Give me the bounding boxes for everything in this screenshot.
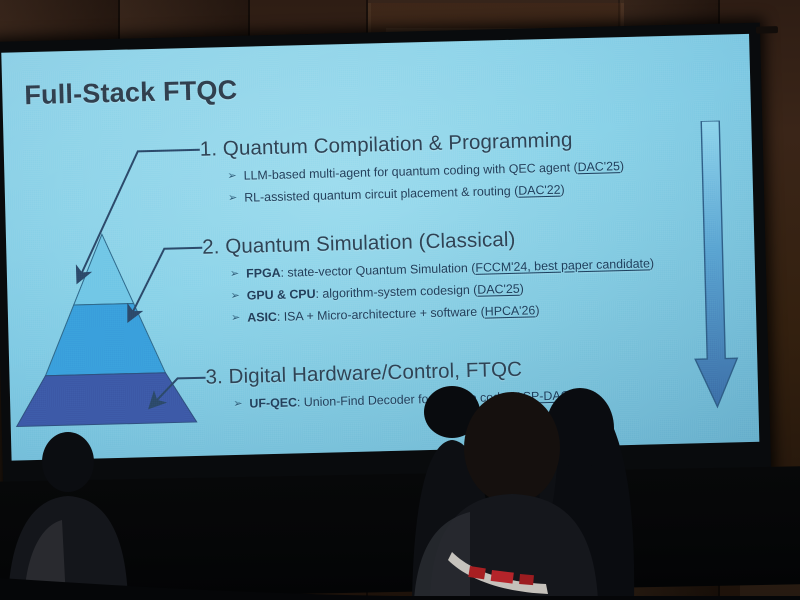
pyramid-middle-tier	[44, 303, 166, 376]
bullet-text: RL-assisted quantum circuit placement & …	[244, 183, 565, 205]
bullet-lead: ASIC	[247, 310, 277, 325]
bullet-tail: )	[620, 159, 624, 173]
audience-shapes	[0, 370, 800, 600]
bullet-body: : ISA + Micro-architecture + software (	[277, 305, 485, 324]
photo-scene: Full-Stack FTQC	[0, 0, 800, 600]
chevron-bullet-icon: ➢	[230, 289, 240, 302]
bullet-tail: )	[650, 256, 654, 270]
list-item: ➢ FPGA: state-vector Quantum Simulation …	[230, 254, 733, 281]
slide-section-2: 2. Quantum Simulation (Classical) ➢ FPGA…	[202, 222, 734, 325]
citation-link[interactable]: DAC'25	[577, 159, 620, 174]
audience-person-left	[8, 432, 128, 600]
bullet-lead: GPU & CPU	[247, 287, 316, 303]
pyramid-top-tier	[72, 234, 134, 305]
citation-link[interactable]: DAC'22	[518, 183, 561, 198]
bullet-text: LLM-based multi-agent for quantum coding…	[244, 159, 625, 183]
bullet-text: ASIC: ISA + Micro-architecture + softwar…	[247, 303, 540, 324]
bullet-list: ➢ FPGA: state-vector Quantum Simulation …	[203, 254, 734, 325]
citation-link[interactable]: DAC'25	[477, 282, 520, 297]
citation-link[interactable]: HPCA'26	[485, 303, 536, 318]
bullet-text: FPGA: state-vector Quantum Simulation (F…	[246, 256, 654, 280]
list-item: ➢ RL-assisted quantum circuit placement …	[228, 178, 731, 205]
slide-section-1: 1. Quantum Compilation & Programming ➢ L…	[199, 124, 731, 205]
screen-mount-rod	[756, 26, 778, 34]
bullet-list: ➢ LLM-based multi-agent for quantum codi…	[200, 156, 731, 205]
bullet-tail: )	[560, 183, 564, 197]
list-item: ➢ GPU & CPU: algorithm-system codesign (…	[230, 276, 733, 303]
bullet-tail: )	[519, 282, 523, 296]
citation-link[interactable]: FCCM'24, best paper candidate	[475, 256, 650, 274]
list-item: ➢ LLM-based multi-agent for quantum codi…	[227, 156, 730, 183]
list-item: ➢ ASIC: ISA + Micro-architecture + softw…	[231, 298, 734, 325]
bullet-text: GPU & CPU: algorithm-system codesign (DA…	[247, 282, 524, 303]
bullet-body: : state-vector Quantum Simulation (	[280, 261, 475, 280]
section-heading: 2. Quantum Simulation (Classical)	[202, 222, 732, 259]
chevron-bullet-icon: ➢	[227, 169, 237, 182]
slide-title: Full-Stack FTQC	[24, 75, 238, 111]
bullet-body: : algorithm-system codesign (	[315, 283, 477, 301]
lanyard-badge	[519, 574, 534, 585]
audience-silhouettes	[0, 370, 800, 600]
chevron-bullet-icon: ➢	[228, 191, 238, 204]
bullet-body: RL-assisted quantum circuit placement & …	[244, 184, 518, 205]
section-heading: 1. Quantum Compilation & Programming	[199, 124, 729, 161]
chevron-bullet-icon: ➢	[230, 267, 240, 280]
chevron-bullet-icon: ➢	[231, 311, 241, 324]
bullet-lead: FPGA	[246, 266, 281, 281]
bullet-tail: )	[535, 303, 539, 317]
bullet-body: LLM-based multi-agent for quantum coding…	[244, 160, 578, 182]
